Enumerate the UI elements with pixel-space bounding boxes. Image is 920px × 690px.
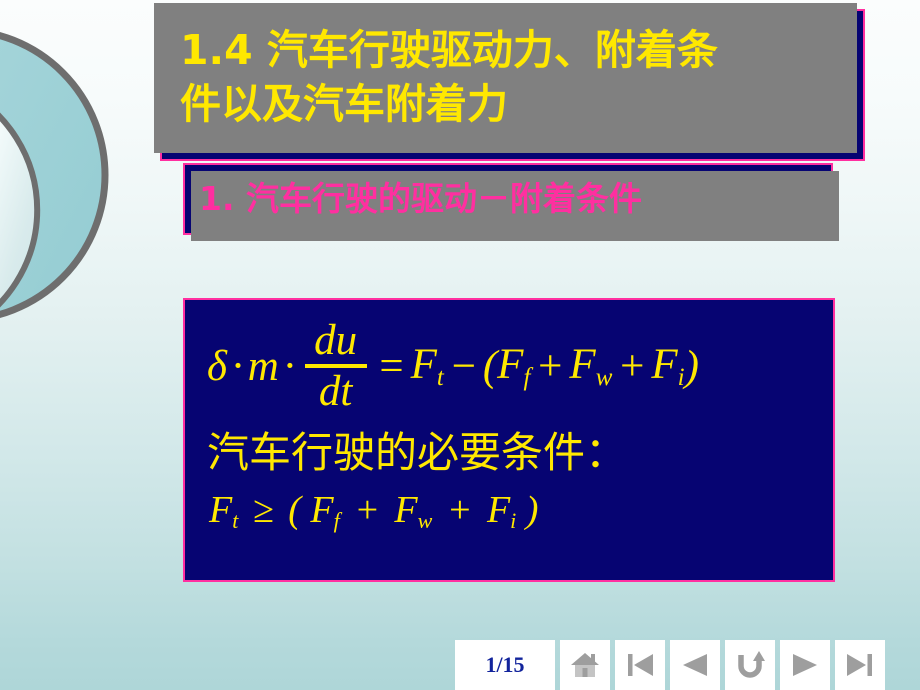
eq2-fw-sub: w [418,508,433,533]
eq1-delta: δ [207,342,227,391]
eq1-fw-sub: w [596,364,613,391]
eq1-derivative-fraction: du dt [305,319,367,413]
eq1-ff-base: F [497,341,523,388]
eq1-fi: Fi [651,340,684,392]
eq2-ft: Ft [209,489,238,531]
eq1-fw: Fw [569,340,612,392]
last-slide-icon[interactable] [843,648,877,682]
previous-slide-icon[interactable] [678,648,712,682]
eq2-fi-sub: i [510,508,516,533]
equation-dynamics: δ · m · du dt = Ft − ( Ff + Fw + Fi ) [197,306,833,426]
slide-title-line2: 件以及汽车附着力 [180,77,863,131]
eq1-fw-base: F [569,341,595,388]
slide-subtitle-box: 1. 汽车行驶的驱动－附着条件 [183,163,833,235]
eq1-open-paren: ( [483,342,497,391]
eq2-fi: Fi [487,489,516,531]
home-button[interactable] [560,640,610,690]
return-icon[interactable] [733,648,767,682]
eq2-open-paren: ( [288,489,301,531]
page-indicator: 1/15 [455,640,555,690]
eq2-fi-base: F [487,489,510,531]
eq1-ft-sub: t [437,364,444,391]
eq2-geq: ≥ [248,489,279,531]
eq2-plus2: + [442,489,478,531]
eq1-close-paren: ) [685,342,699,391]
eq1-minus: − [444,342,483,391]
eq2-ft-sub: t [232,508,238,533]
eq1-plus2: + [612,342,651,391]
slide-subtitle: 1. 汽车行驶的驱动－附着条件 [185,165,831,233]
equation-necessary-condition: Ft ≥ ( Ff + Fw + Fi ) [197,478,833,534]
eq2-ff-sub: f [334,508,340,533]
home-icon[interactable] [568,648,602,682]
eq2-ff-base: F [310,489,333,531]
eq2-plus1: + [349,489,385,531]
formula-box: δ · m · du dt = Ft − ( Ff + Fw + Fi ) [183,298,835,582]
eq1-plus1: + [530,342,569,391]
next-slide-button[interactable] [780,640,830,690]
eq1-dot2: · [279,342,300,391]
eq1-fi-base: F [651,341,677,388]
eq1-fraction-denominator: dt [315,368,356,413]
eq1-equals: = [372,342,411,391]
eq1-ff-sub: f [523,364,530,391]
slide-title-box: 1.4 汽车行驶驱动力、附着条 件以及汽车附着力 [160,9,865,161]
slide-canvas: 1.4 汽车行驶驱动力、附着条 件以及汽车附着力 1. 汽车行驶的驱动－附着条件… [0,0,920,690]
slide-title-line1: 1.4 汽车行驶驱动力、附着条 [180,23,863,77]
previous-slide-button[interactable] [670,640,720,690]
first-slide-icon[interactable] [623,648,657,682]
eq2-fw-base: F [394,489,417,531]
formula-content: δ · m · du dt = Ft − ( Ff + Fw + Fi ) [185,300,833,534]
eq1-mass: m [248,342,279,391]
page-indicator-label: 1/15 [485,652,524,678]
last-slide-button[interactable] [835,640,885,690]
eq1-dot1: · [227,342,248,391]
eq1-ff: Ff [497,340,530,392]
eq2-ft-base: F [209,489,232,531]
next-slide-icon[interactable] [788,648,822,682]
return-button[interactable] [725,640,775,690]
first-slide-button[interactable] [615,640,665,690]
eq2-ff: Ff [310,489,339,531]
slide-title: 1.4 汽车行驶驱动力、附着条 件以及汽车附着力 [162,11,863,131]
slide-navigation-bar[interactable]: 1/15 [455,640,885,690]
eq1-fi-sub: i [678,364,685,391]
front-arc-shape [0,88,37,332]
eq1-ft-base: F [411,341,437,388]
eq1-ft: Ft [411,340,444,392]
eq2-fw: Fw [394,489,432,531]
eq1-fraction-numerator: du [310,319,361,364]
formula-chinese-note: 汽车行驶的必要条件： [197,426,833,478]
back-arc-shape [0,30,105,320]
eq2-close-paren: ) [526,489,539,531]
